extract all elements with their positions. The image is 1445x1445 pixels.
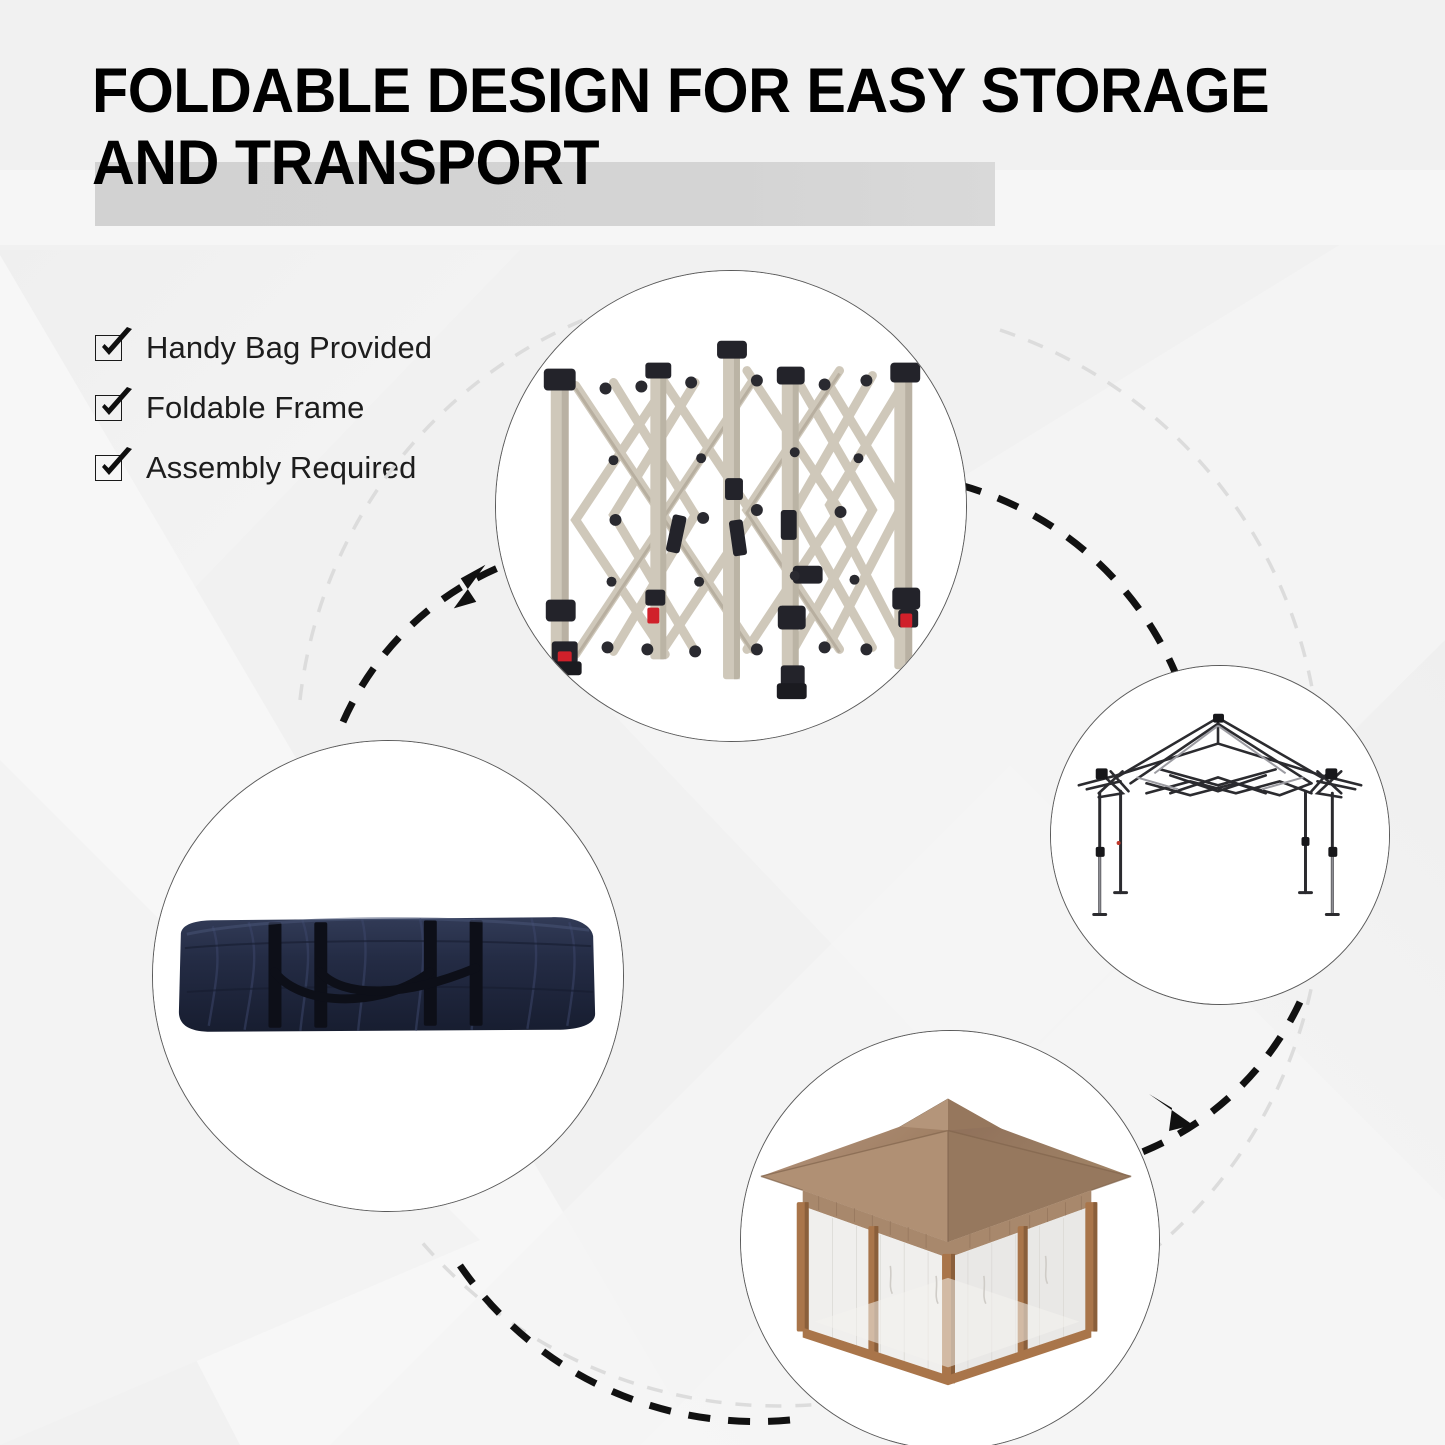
image-circle-assembled-gazebo (740, 1030, 1160, 1445)
checkbox-checked-icon (95, 333, 129, 363)
feature-list: Handy Bag Provided Foldable Frame Assemb… (95, 318, 432, 498)
image-circle-carry-bag (152, 740, 624, 1212)
carry-bag-illustration (153, 741, 623, 1211)
checkbox-checked-icon (95, 393, 129, 423)
image-circle-folded-frame (495, 270, 967, 742)
expanded-frame-illustration (1051, 666, 1389, 1004)
list-item-label: Handy Bag Provided (146, 330, 432, 366)
folded-frame-illustration (496, 271, 966, 741)
image-circle-expanded-frame (1050, 665, 1390, 1005)
list-item: Foldable Frame (95, 378, 432, 438)
slide-canvas: FOLDABLE DESIGN FOR EASY STORAGE AND TRA… (0, 0, 1445, 1445)
assembled-gazebo-illustration (741, 1031, 1159, 1445)
heading-block: FOLDABLE DESIGN FOR EASY STORAGE AND TRA… (92, 55, 1352, 199)
page-title: FOLDABLE DESIGN FOR EASY STORAGE AND TRA… (92, 55, 1276, 199)
list-item-label: Assembly Required (146, 450, 416, 486)
checkbox-checked-icon (95, 453, 129, 483)
list-item: Assembly Required (95, 438, 432, 498)
list-item-label: Foldable Frame (146, 390, 365, 426)
list-item: Handy Bag Provided (95, 318, 432, 378)
